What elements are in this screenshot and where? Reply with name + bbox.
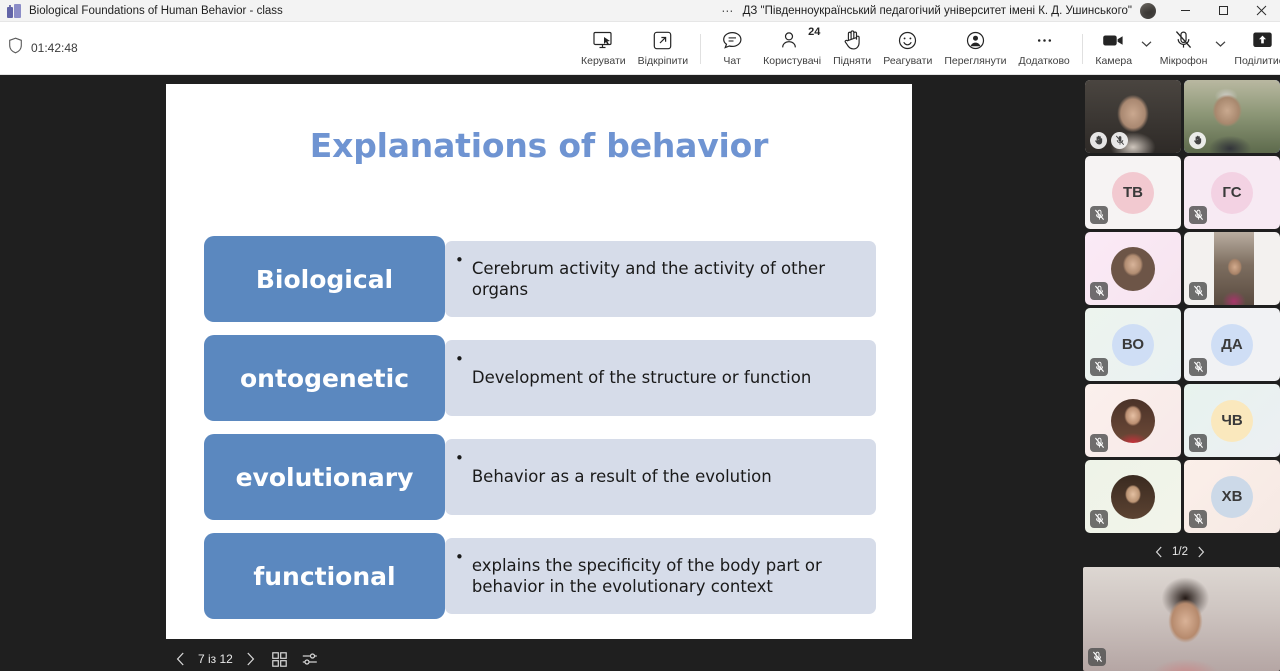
participant-tile[interactable] — [1085, 460, 1181, 533]
mic-muted-icon — [1189, 206, 1207, 224]
participant-tile[interactable] — [1184, 80, 1280, 153]
grid-view-icon[interactable] — [265, 647, 295, 671]
raise-hand-icon — [843, 28, 862, 52]
slide-title: Explanations of behavior — [166, 126, 912, 165]
more-icon — [1035, 28, 1054, 52]
toolbar-label-chat: Чат — [723, 55, 740, 67]
camera-chevron-down-icon[interactable] — [1139, 40, 1154, 58]
organization-name: ДЗ "Південноукраїнський педагогічий унів… — [743, 5, 1140, 17]
participant-tile[interactable]: ВО — [1085, 308, 1181, 381]
participant-badges — [1090, 132, 1128, 149]
spotlight-tile[interactable] — [1083, 567, 1280, 671]
toolbar-item-camera[interactable]: Камера — [1089, 22, 1139, 67]
window-title: Biological Foundations of Human Behavior… — [29, 5, 283, 17]
toolbar-item-reactions[interactable]: Реагувати — [877, 22, 938, 67]
toolbar-item-people[interactable]: 24 Користувачі — [757, 22, 827, 67]
bullet-icon: • — [455, 350, 464, 368]
mic-muted-icon — [1174, 28, 1193, 52]
slide-row: Biological • Cerebrum activity and the a… — [204, 236, 876, 322]
chevron-left-icon[interactable] — [166, 647, 194, 671]
toolbar-label-give-control: Керувати — [581, 55, 626, 67]
mic-muted-icon — [1189, 282, 1207, 300]
bullet-icon: • — [455, 251, 464, 269]
slide-row-desc-text: Development of the structure or function — [472, 367, 811, 388]
toolbar-item-pop-out[interactable]: Відкріпити — [632, 22, 694, 67]
toolbar-label-pop-out: Відкріпити — [638, 55, 688, 67]
slide-row: functional • explains the specificity of… — [204, 533, 876, 619]
participant-initials: ГС — [1211, 172, 1253, 214]
chevron-left-icon[interactable] — [1148, 541, 1170, 563]
toolbar-label-more: Додатково — [1019, 55, 1070, 67]
slide-row-desc-text: Cerebrum activity and the activity of ot… — [472, 258, 862, 300]
slide-row: evolutionary • Behavior as a result of t… — [204, 434, 876, 520]
slide-row-desc: • Development of the structure or functi… — [445, 340, 876, 416]
participant-photo-6 — [1111, 475, 1155, 519]
slide-row-desc: • Cerebrum activity and the activity of … — [445, 241, 876, 317]
avatar[interactable] — [1140, 3, 1156, 19]
participant-tile[interactable]: ГС — [1184, 156, 1280, 229]
mic-muted-icon — [1189, 510, 1207, 528]
mic-muted-icon — [1090, 282, 1108, 300]
mic-muted-icon — [1189, 434, 1207, 452]
roster-page-label: 1/2 — [1172, 546, 1188, 558]
toolbar-item-chat[interactable]: Чат — [707, 22, 757, 67]
participant-tile[interactable] — [1085, 80, 1181, 153]
chevron-right-icon[interactable] — [1190, 541, 1212, 563]
participant-initials: ЧВ — [1211, 400, 1253, 442]
mic-muted-icon — [1111, 132, 1128, 149]
window-title-bar: Biological Foundations of Human Behavior… — [0, 0, 1280, 22]
mic-muted-icon — [1090, 510, 1108, 528]
slide-row-desc-text: Behavior as a result of the evolution — [472, 466, 772, 487]
toolbar-item-more[interactable]: Додатково — [1013, 22, 1076, 67]
toolbar-divider-2 — [1082, 34, 1083, 64]
toolbar-item-give-control[interactable]: Керувати — [575, 22, 632, 67]
participant-initials: ТВ — [1112, 172, 1154, 214]
toolbar-label-people: Користувачі — [763, 55, 821, 67]
slide-row-label: ontogenetic — [204, 335, 445, 421]
reactions-icon — [898, 28, 917, 52]
participant-tile[interactable]: ТВ — [1085, 156, 1181, 229]
mic-muted-icon — [1189, 358, 1207, 376]
title-bar-right: ⋯ ДЗ "Південноукраїнський педагогічий ун… — [713, 0, 1280, 22]
participants-panel: ТВ ГС ВО — [1080, 75, 1280, 671]
bullet-icon: • — [455, 548, 464, 566]
toolbar-label-share: Поділитися — [1234, 55, 1280, 67]
toolbar-label-camera: Камера — [1095, 55, 1132, 67]
bullet-icon: • — [455, 449, 464, 467]
minimize-button[interactable] — [1166, 0, 1204, 22]
teams-app-icon — [7, 4, 21, 18]
raise-hand-icon — [1090, 132, 1107, 149]
roster-pager: 1/2 — [1080, 541, 1280, 563]
participant-initials: ХВ — [1211, 476, 1253, 518]
participant-initials: ДА — [1211, 324, 1253, 366]
participant-photo-5 — [1111, 399, 1155, 443]
chat-icon — [722, 28, 743, 52]
slide-row-desc-text: explains the specificity of the body par… — [472, 555, 862, 597]
give-control-icon — [593, 28, 614, 52]
spotlight-video-figure — [1083, 567, 1280, 671]
slide-rows: Biological • Cerebrum activity and the a… — [204, 236, 876, 619]
people-icon: 24 — [781, 28, 803, 52]
share-screen-icon — [1252, 28, 1273, 52]
participant-initials: ВО — [1112, 324, 1154, 366]
timer-text: 01:42:48 — [31, 41, 78, 55]
close-button[interactable] — [1242, 0, 1280, 22]
meeting-stage: Explanations of behavior Biological • Ce… — [0, 75, 1080, 671]
microphone-chevron-down-icon[interactable] — [1213, 40, 1228, 58]
participant-tile[interactable]: ЧВ — [1184, 384, 1280, 457]
mic-muted-icon — [1090, 358, 1108, 376]
participant-tile[interactable]: ДА — [1184, 308, 1280, 381]
toolbar-label-microphone: Мікрофон — [1160, 55, 1208, 67]
maximize-button[interactable] — [1204, 0, 1242, 22]
sliders-icon[interactable] — [295, 647, 325, 671]
view-icon — [966, 28, 985, 52]
toolbar-label-reactions: Реагувати — [883, 55, 932, 67]
meeting-toolbar: 01:42:48 Керувати Відкр — [0, 22, 1280, 75]
participant-grid: ТВ ГС ВО — [1085, 80, 1280, 533]
mic-muted-icon — [1088, 648, 1106, 666]
participant-tile[interactable] — [1085, 232, 1181, 305]
slide-row-label: functional — [204, 533, 445, 619]
shield-icon — [8, 37, 23, 59]
toolbar-item-raise-hand[interactable]: Підняти — [827, 22, 877, 67]
pop-out-icon — [653, 28, 672, 52]
toolbar-item-share[interactable]: Поділитися — [1228, 22, 1280, 67]
toolbar-label-view: Переглянути — [944, 55, 1006, 67]
slide-row: ontogenetic • Development of the structu… — [204, 335, 876, 421]
participant-tile[interactable] — [1085, 384, 1181, 457]
participant-tile[interactable]: ХВ — [1184, 460, 1280, 533]
mic-muted-icon — [1090, 434, 1108, 452]
participant-video-figure — [1214, 232, 1254, 305]
camera-icon — [1102, 28, 1125, 52]
chevron-right-icon[interactable] — [237, 647, 265, 671]
toolbar-divider-1 — [700, 34, 701, 64]
people-count-badge: 24 — [808, 26, 820, 38]
toolbar-actions: Керувати Відкріпити Чат — [575, 22, 1280, 75]
slide-row-desc: • explains the specificity of the body p… — [445, 538, 876, 614]
toolbar-label-raise-hand: Підняти — [833, 55, 871, 67]
more-dots-icon[interactable]: ⋯ — [713, 5, 742, 17]
meeting-timer: 01:42:48 — [8, 37, 78, 59]
raise-hand-icon — [1189, 132, 1206, 149]
toolbar-item-microphone[interactable]: Мікрофон — [1154, 22, 1214, 67]
slide-counter: 7 із 12 — [194, 652, 237, 666]
participant-photo-3 — [1111, 247, 1155, 291]
participant-tile[interactable] — [1184, 232, 1280, 305]
slide-row-label: Biological — [204, 236, 445, 322]
toolbar-item-view[interactable]: Переглянути — [938, 22, 1012, 67]
shared-slide[interactable]: Explanations of behavior Biological • Ce… — [166, 84, 912, 639]
mic-muted-icon — [1090, 206, 1108, 224]
slide-row-label: evolutionary — [204, 434, 445, 520]
slide-navigation: 7 із 12 — [166, 647, 325, 671]
participant-badges — [1189, 132, 1206, 149]
slide-row-desc: • Behavior as a result of the evolution — [445, 439, 876, 515]
